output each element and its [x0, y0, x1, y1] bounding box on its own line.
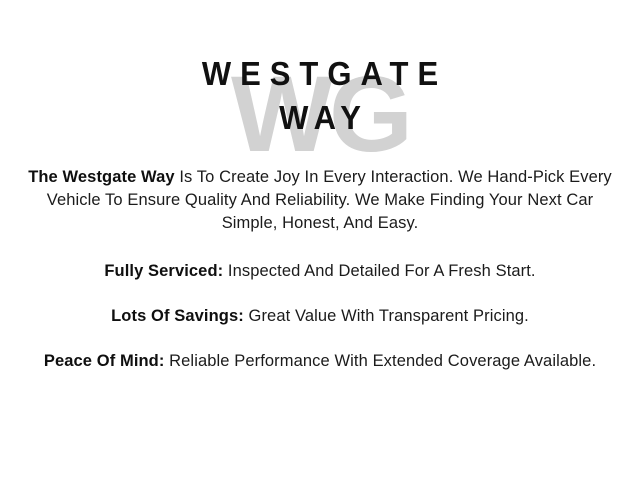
paragraph-fully-serviced-lead: Fully Serviced: [104, 262, 223, 280]
paragraph-lots-of-savings-lead: Lots Of Savings: [111, 307, 244, 325]
paragraph-peace-of-mind-text: Reliable Performance With Extended Cover… [164, 352, 596, 370]
brand-name-primary: WESTGATE [0, 57, 640, 92]
paragraph-fully-serviced: Fully Serviced: Inspected And Detailed F… [28, 260, 612, 283]
paragraph-lots-of-savings: Lots Of Savings: Great Value With Transp… [28, 305, 612, 328]
paragraph-mission-lead: The Westgate Way [28, 168, 174, 186]
brand-logo: WG WESTGATE WAY [0, 0, 640, 130]
westgate-way-info-card: WG WESTGATE WAY The Westgate Way Is To C… [0, 0, 640, 480]
brand-wordmark: WESTGATE WAY [0, 58, 640, 134]
paragraph-fully-serviced-text: Inspected And Detailed For A Fresh Start… [223, 262, 535, 280]
paragraph-mission: The Westgate Way Is To Create Joy In Eve… [28, 166, 612, 234]
paragraph-peace-of-mind-lead: Peace Of Mind: [44, 352, 165, 370]
paragraph-peace-of-mind: Peace Of Mind: Reliable Performance With… [28, 350, 612, 373]
brand-message-body: The Westgate Way Is To Create Joy In Eve… [28, 130, 612, 373]
paragraph-lots-of-savings-text: Great Value With Transparent Pricing. [244, 307, 529, 325]
